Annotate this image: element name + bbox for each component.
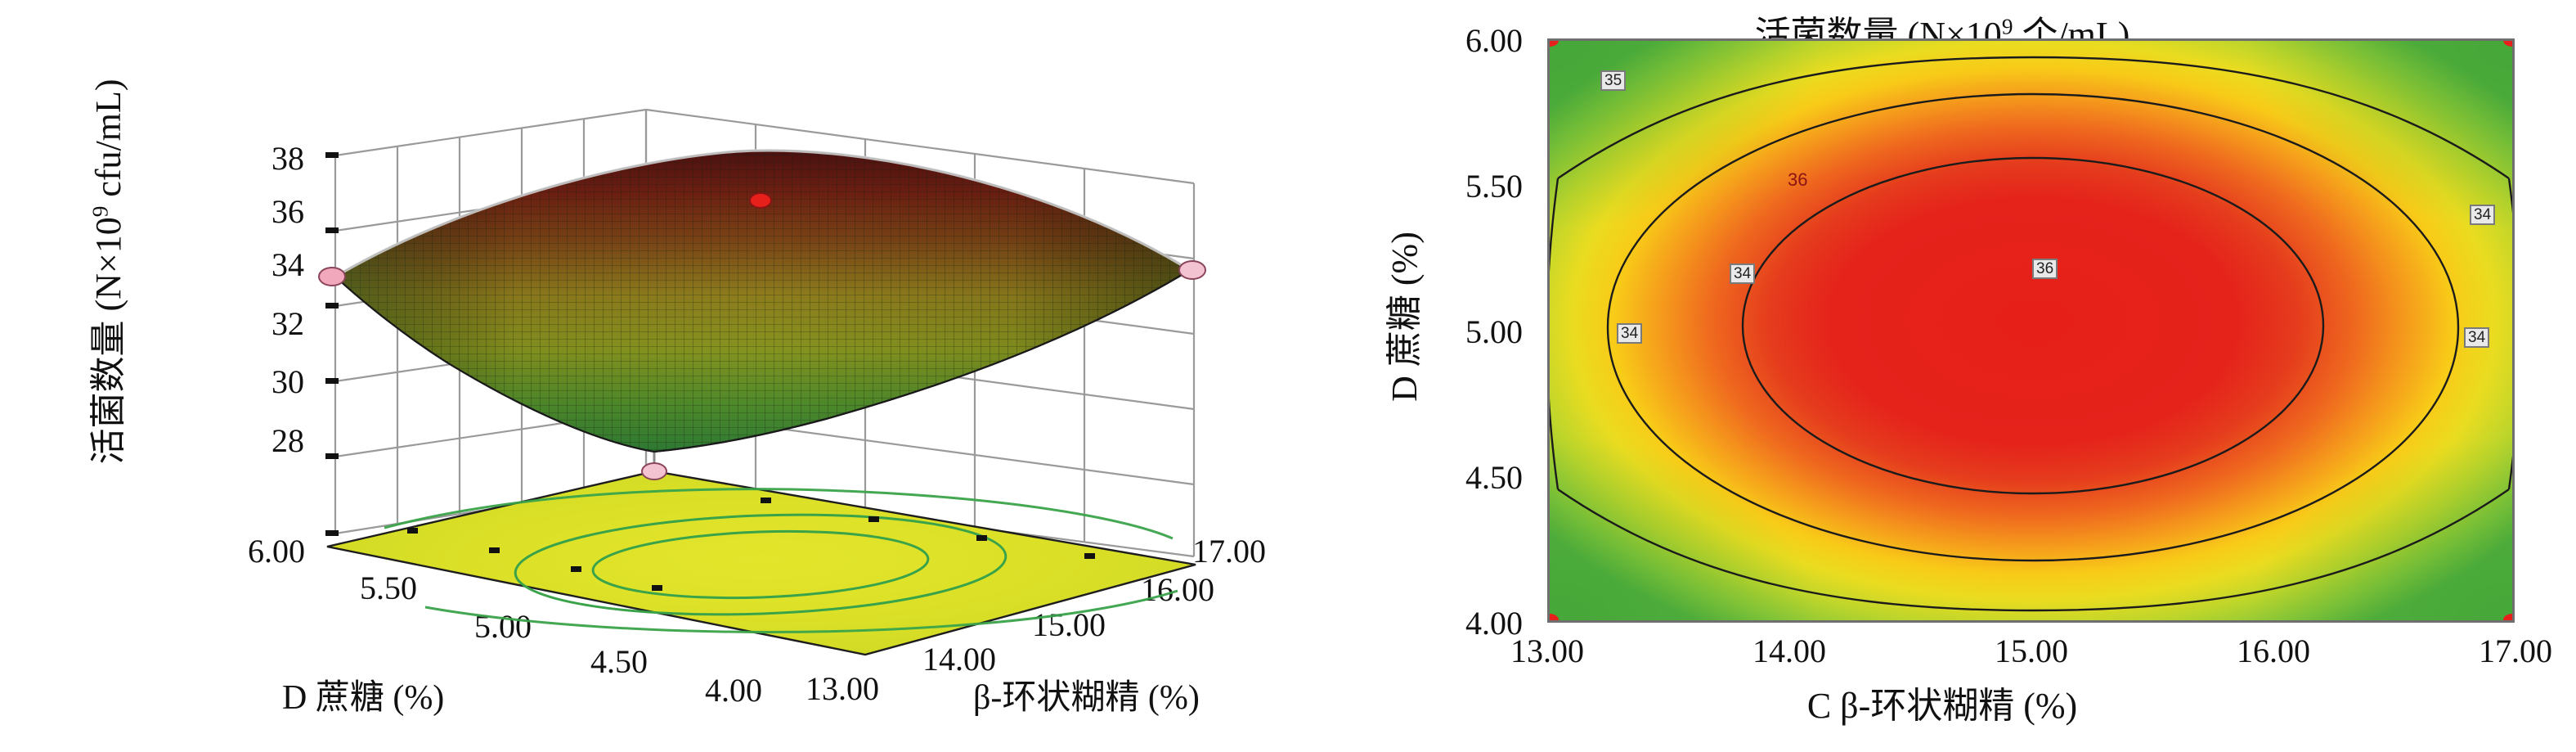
contour-label-35-topleft: 35 xyxy=(1600,70,1626,91)
contour-title-exponent: 9 xyxy=(2002,14,2013,38)
surface-3d-panel: 活菌数量 (N×109 cfu/mL) 38 36 34 32 30 28 6.… xyxy=(0,0,1308,752)
contour-x-tick-1700: 17.00 xyxy=(2434,632,2576,670)
surface-floor xyxy=(327,471,1196,655)
contour-x-tick-1400: 14.00 xyxy=(1708,632,1871,670)
contour-label-34-left: 34 xyxy=(1730,263,1755,284)
contour-label-center: 36 xyxy=(1785,171,1810,188)
contour-x-tick-1300: 13.00 xyxy=(1465,632,1629,670)
surface-z-tickmarks xyxy=(325,152,339,536)
contour-panel: 活菌数量 (N×109 个/mL) D 蔗糖 (%) C β-环状糊精 (%) … xyxy=(1308,0,2576,752)
contour-plot-area: 35 34 34 34 34 36 36 xyxy=(1547,38,2515,623)
contour-label-34-lowerright: 34 xyxy=(2464,327,2489,348)
contour-y-axis-name: D 蔗糖 (%) xyxy=(1375,112,1427,521)
contour-corner-point-bottom-right xyxy=(2503,614,2515,623)
surface-mesh xyxy=(319,139,1210,466)
contour-graphic xyxy=(1550,41,2515,623)
surface-3d-graphic xyxy=(0,0,1308,752)
figure-root: 活菌数量 (N×109 cfu/mL) 38 36 34 32 30 28 6.… xyxy=(0,0,2576,752)
contour-y-tick-450: 4.50 xyxy=(1465,458,1523,497)
contour-x-tick-1600: 16.00 xyxy=(2192,632,2355,670)
contour-x-tick-1500: 15.00 xyxy=(1950,632,2113,670)
contour-y-tick-500: 5.00 xyxy=(1465,313,1523,351)
contour-y-tick-600: 6.00 xyxy=(1465,21,1523,60)
contour-y-tick-550: 5.50 xyxy=(1465,167,1523,205)
contour-label-36-inner: 36 xyxy=(2032,259,2058,279)
contour-label-34-lowerleft: 34 xyxy=(1617,323,1642,344)
contour-label-34-right: 34 xyxy=(2470,205,2495,225)
contour-x-axis-name: C β-环状糊精 (%) xyxy=(1308,676,2576,728)
